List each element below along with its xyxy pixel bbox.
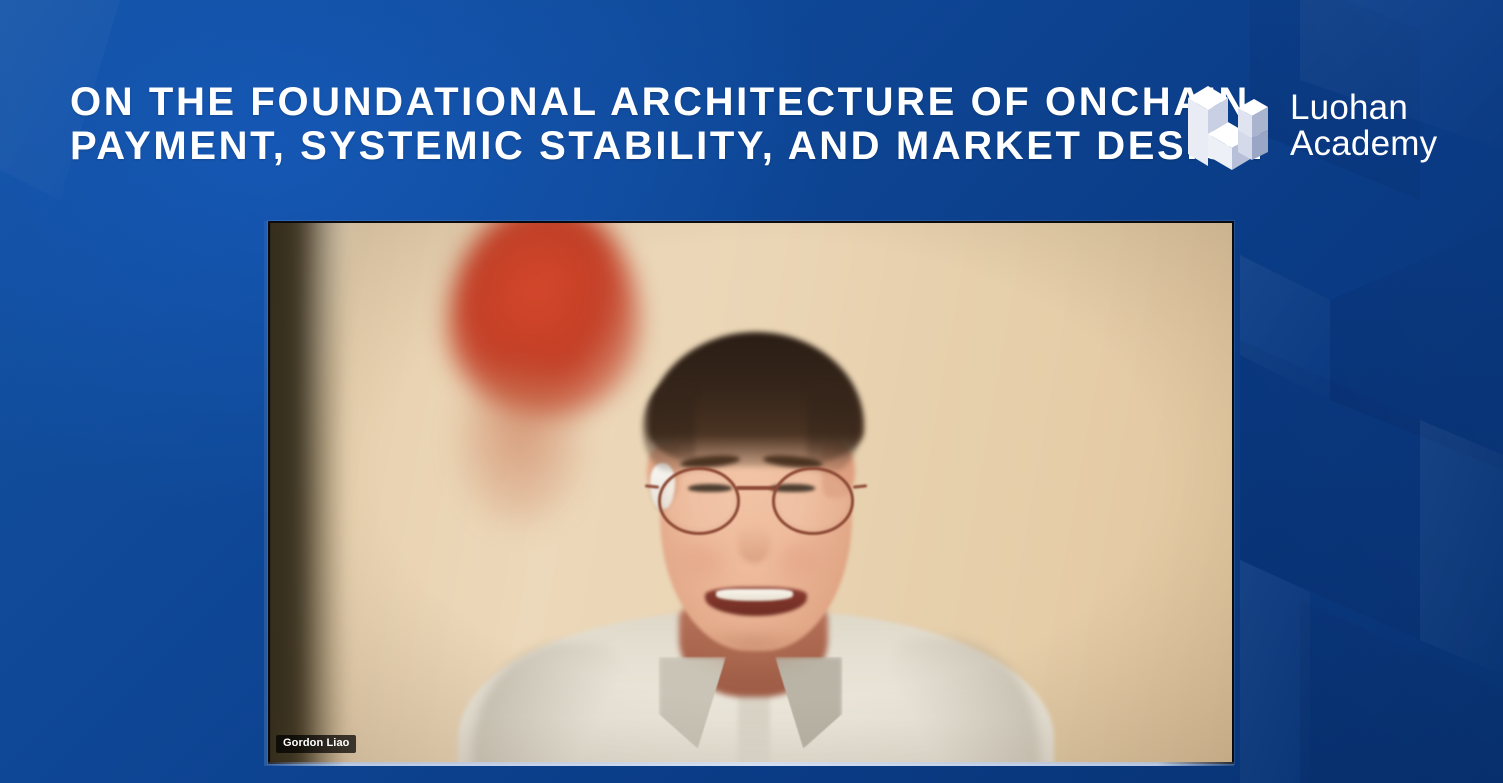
video-participant-tile[interactable]: Gordon Liao — [268, 221, 1234, 764]
presentation-slide: ON THE FOUNDATIONAL ARCHITECTURE OF ONCH… — [0, 0, 1503, 783]
page-title: ON THE FOUNDATIONAL ARCHITECTURE OF ONCH… — [70, 80, 1180, 168]
luohan-academy-logo: Luohan Academy — [1182, 78, 1437, 174]
title-line-2: PAYMENT, SYSTEMIC STABILITY, AND MARKET … — [70, 124, 1180, 168]
video-feed: Gordon Liao — [270, 223, 1232, 762]
participant-name-label: Gordon Liao — [276, 735, 356, 753]
video-tile-underline — [268, 762, 1234, 766]
logo-text-academy: Academy — [1290, 126, 1437, 162]
logo-wordmark: Luohan Academy — [1290, 90, 1437, 162]
luohan-monogram-icon — [1182, 78, 1274, 174]
title-line-1: ON THE FOUNDATIONAL ARCHITECTURE OF ONCH… — [70, 80, 1180, 124]
logo-text-luohan: Luohan — [1290, 90, 1437, 126]
video-vignette — [270, 223, 1232, 762]
